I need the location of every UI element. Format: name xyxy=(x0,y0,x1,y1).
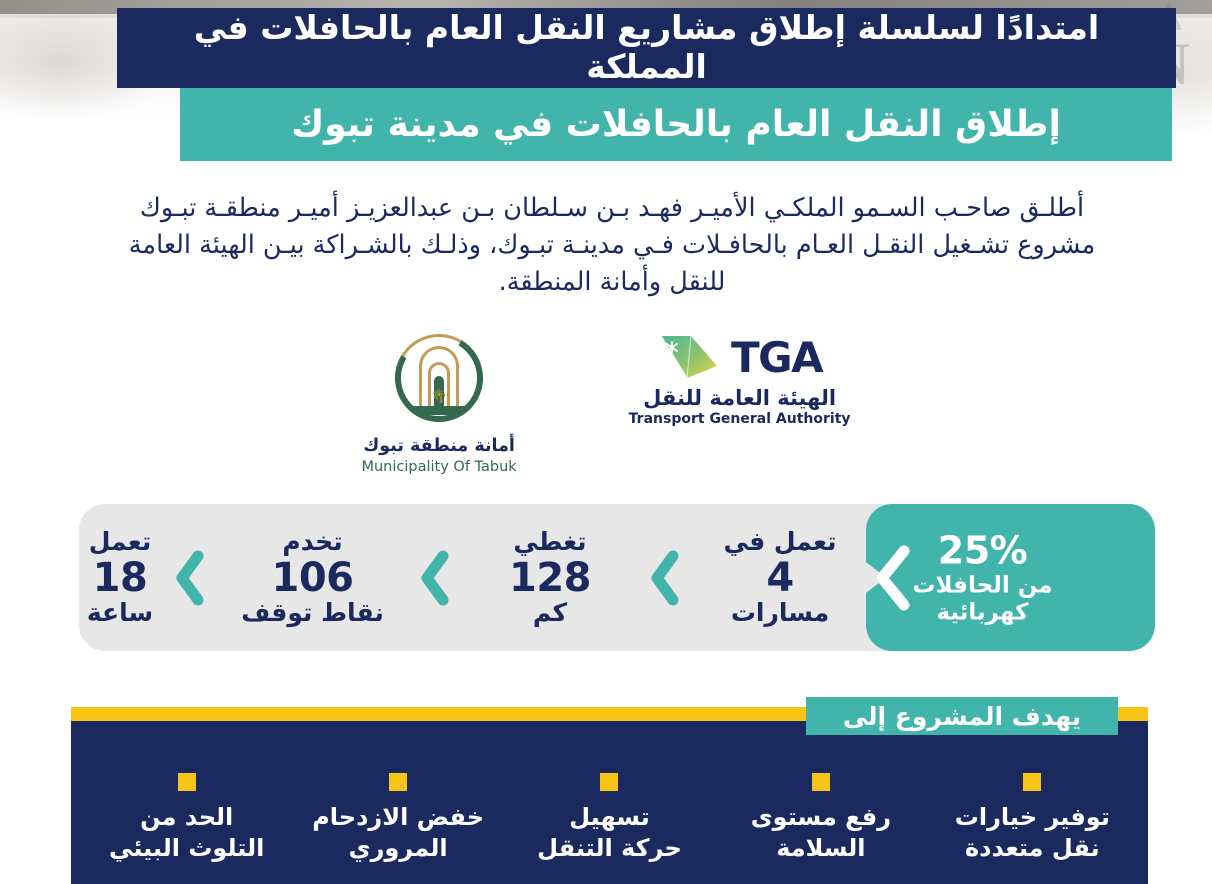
stat-item-hours: تعمل 18 ساعة xyxy=(79,504,161,651)
chevron-left-icon xyxy=(645,548,685,608)
municipality-caption-ar: أمانة منطقة تبوك xyxy=(361,436,516,458)
goal-item: تسهيل حركة التنقل xyxy=(504,760,715,884)
stat-highlight-value: 25% xyxy=(866,528,1099,573)
municipality-of-tabuk-logo-icon: 🌴 أمانة منطقة تبوك xyxy=(387,332,491,432)
stats-card: 25% من الحافلات كهربائية تعمل في 4 مسارا… xyxy=(79,504,1155,651)
body-paragraph: أطلـق صاحـب السـمو الملكـي الأميـر فهـد … xyxy=(106,190,1118,301)
headline-kicker-text: امتدادًا لسلسلة إطلاق مشاريع النقل العام… xyxy=(139,9,1154,87)
goal-bullet-icon xyxy=(178,773,196,791)
goal-bullet-icon xyxy=(1023,773,1041,791)
stat-label-top: تعمل في xyxy=(724,529,837,555)
goal-item: رفع مستوى السلامة xyxy=(715,760,926,884)
stat-highlight: 25% من الحافلات كهربائية xyxy=(866,504,1155,651)
goal-bullet-icon xyxy=(600,773,618,791)
headline-kicker-bar: امتدادًا لسلسلة إطلاق مشاريع النقل العام… xyxy=(117,8,1176,88)
chevron-separator-3 xyxy=(161,504,219,651)
stat-label-bottom: نقاط توقف xyxy=(241,600,384,626)
stat-number: 4 xyxy=(766,557,793,599)
chevron-separator-2 xyxy=(406,504,464,651)
goal-bullet-icon xyxy=(812,773,830,791)
goals-tag: يهدف المشروع إلى xyxy=(806,697,1118,735)
stat-highlight-line2: كهربائية xyxy=(866,600,1099,627)
municipality-of-tabuk-logo-block: 🌴 أمانة منطقة تبوك أمانة منطقة تبوك Muni… xyxy=(361,332,516,477)
stat-item-routes: تعمل في 4 مسارات xyxy=(694,504,866,651)
chevron-left-icon xyxy=(415,548,455,608)
stat-number: 106 xyxy=(272,557,354,599)
goal-item: الحد من التلوث البيئي xyxy=(81,760,292,884)
municipality-arc-text: أمانة منطقة تبوك xyxy=(407,410,471,417)
tga-logo-block: TGA الهيئة العامة للنقل Transport Genera… xyxy=(629,332,851,428)
goal-bullet-icon xyxy=(389,773,407,791)
tga-caption-en: Transport General Authority xyxy=(629,411,851,428)
tga-caption-ar: الهيئة العامة للنقل xyxy=(643,386,836,411)
stat-item-stops: تخدم 106 نقاط توقف xyxy=(219,504,406,651)
goal-label: رفع مستوى السلامة xyxy=(751,802,891,863)
goal-item: خفض الازدحام المروري xyxy=(292,760,503,884)
stat-number: 128 xyxy=(509,557,591,599)
goal-label: خفض الازدحام المروري xyxy=(312,802,484,863)
goal-item: توفير خيارات نقل متعددة xyxy=(927,760,1138,884)
stat-item-distance: تغطي 128 كم xyxy=(464,504,636,651)
stat-label-bottom: ساعة xyxy=(87,600,153,626)
goal-label: توفير خيارات نقل متعددة xyxy=(955,802,1110,863)
tga-wordmark: TGA xyxy=(731,337,822,379)
tga-logo-icon xyxy=(657,332,721,384)
stat-label-bottom: مسارات xyxy=(731,600,829,626)
stat-label-top: تخدم xyxy=(282,529,342,555)
chevron-left-icon xyxy=(170,548,210,608)
goals-grid: توفير خيارات نقل متعددة رفع مستوى السلام… xyxy=(71,760,1148,884)
stat-label-top: تغطي xyxy=(513,529,586,555)
page-title: إطلاق النقل العام بالحافلات في مدينة تبو… xyxy=(291,105,1061,145)
chevron-separator-1 xyxy=(636,504,694,651)
stat-highlight-line1: من الحافلات xyxy=(866,573,1099,600)
stat-label-bottom: كم xyxy=(533,600,567,626)
headline-title-bar: إطلاق النقل العام بالحافلات في مدينة تبو… xyxy=(180,88,1172,161)
stat-number: 18 xyxy=(93,557,148,599)
municipality-caption-en: Municipality Of Tabuk xyxy=(361,458,516,477)
goal-label: الحد من التلوث البيئي xyxy=(109,802,264,863)
goal-label: تسهيل حركة التنقل xyxy=(537,802,682,863)
logo-row: 🌴 أمانة منطقة تبوك أمانة منطقة تبوك Muni… xyxy=(0,332,1212,472)
stat-label-top: تعمل xyxy=(89,529,152,555)
